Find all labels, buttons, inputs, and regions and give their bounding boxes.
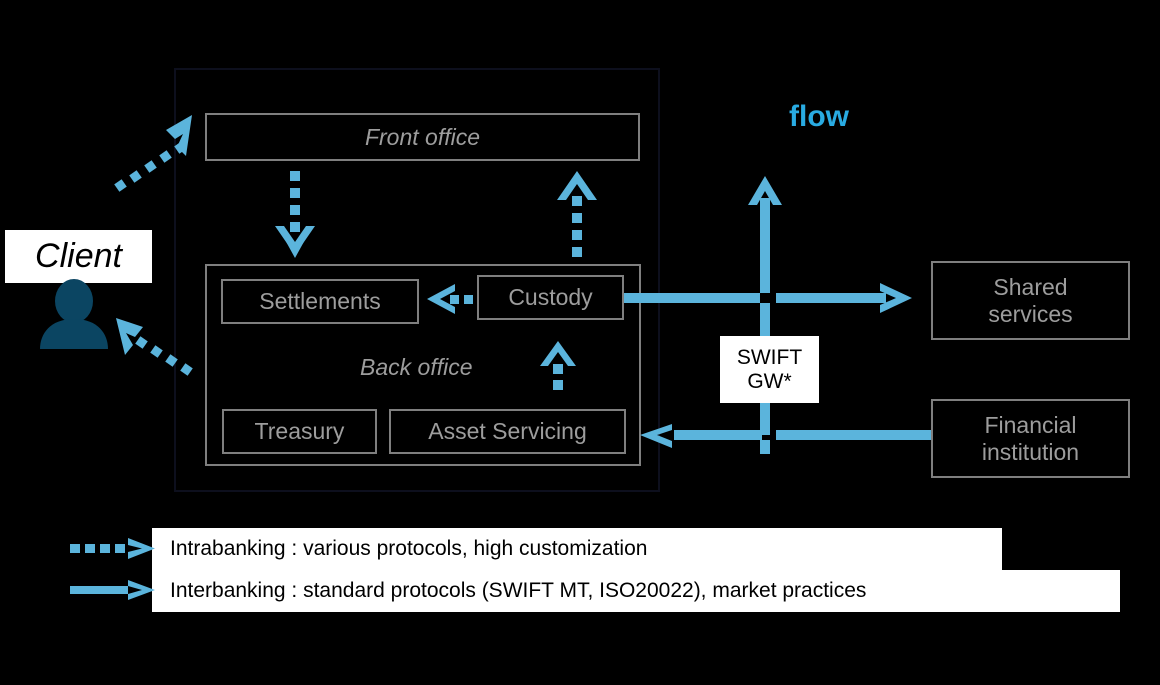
treasury-box[interactable]: Treasury	[222, 409, 377, 454]
asset-servicing-label: Asset Servicing	[428, 418, 587, 444]
swift-gateway-label-line2: GW*	[747, 370, 791, 394]
client-label: Client	[35, 237, 122, 275]
legend-interbanking-text: Interbanking : standard protocols (SWIFT…	[170, 579, 866, 603]
custody-to-shared-services-arrow	[624, 283, 912, 313]
legend-intrabanking-text: Intrabanking : various protocols, high c…	[170, 537, 647, 561]
front-office-box[interactable]: Front office	[205, 113, 640, 161]
asset-servicing-box[interactable]: Asset Servicing	[389, 409, 626, 454]
flow-caption: flow	[789, 100, 849, 134]
solid-arrow-icon	[70, 580, 155, 600]
treasury-label: Treasury	[255, 418, 345, 444]
financial-institution-label-line2: institution	[982, 439, 1079, 465]
legend-item-interbanking: Interbanking : standard protocols (SWIFT…	[152, 570, 1120, 612]
swift-gateway-label-line1: SWIFT	[737, 346, 802, 370]
client-box[interactable]: Client	[5, 230, 152, 283]
swift-gateway-vertical-connector	[748, 176, 782, 454]
custody-label: Custody	[508, 284, 592, 310]
back-office-label: Back office	[360, 354, 473, 381]
shared-services-box[interactable]: Shared services	[931, 261, 1130, 340]
custody-box[interactable]: Custody	[477, 275, 624, 320]
financial-institution-to-asset-servicing-arrow	[640, 424, 931, 448]
settlements-label: Settlements	[259, 288, 380, 314]
person-icon	[40, 279, 108, 349]
settlements-box[interactable]: Settlements	[221, 279, 419, 324]
legend-item-intrabanking: Intrabanking : various protocols, high c…	[152, 528, 1002, 570]
financial-institution-box[interactable]: Financial institution	[931, 399, 1130, 478]
shared-services-label-line1: Shared	[993, 274, 1067, 300]
shared-services-label-line2: services	[988, 301, 1072, 327]
diagram-canvas: Front office Back office Settlements Cus…	[0, 0, 1160, 685]
financial-institution-label-line1: Financial	[984, 412, 1076, 438]
front-office-label: Front office	[365, 124, 480, 150]
dotted-arrow-icon	[70, 538, 155, 559]
swift-gateway-box[interactable]: SWIFT GW*	[720, 336, 819, 403]
